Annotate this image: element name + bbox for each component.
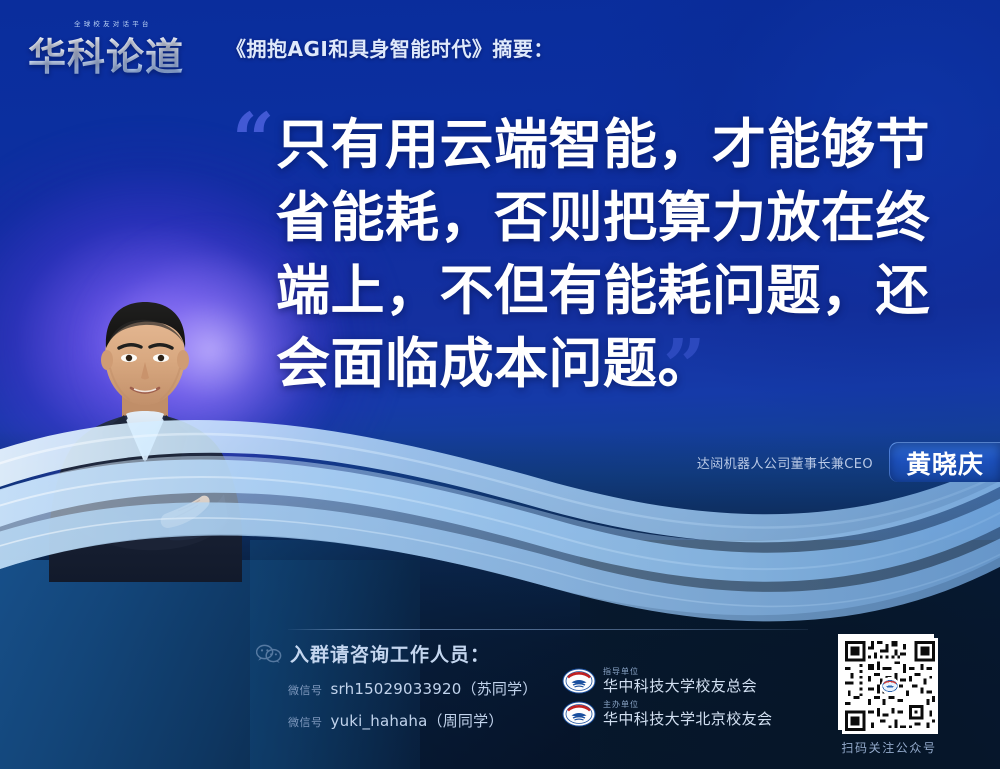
page-title: 《拥抱AGI和具身智能时代》摘要：	[226, 33, 554, 62]
footer-divider	[288, 629, 808, 630]
quote-close-mark: ”	[663, 330, 706, 404]
organizer-name: 华中科技大学北京校友会	[603, 712, 772, 727]
organizer-name: 华中科技大学校友总会	[603, 679, 757, 694]
poster-root: 全球校友对话平台 华科论道 《拥抱AGI和具身智能时代》摘要： “ 只有用云端智…	[0, 0, 1000, 769]
contact-label: 微信号	[288, 714, 323, 730]
wechat-icon	[256, 644, 282, 664]
qr-caption: 扫码关注公众号	[838, 739, 940, 756]
join-heading: 入群请咨询工作人员：	[290, 640, 490, 667]
brand-name: 华科论道	[28, 26, 184, 81]
university-emblem-icon	[562, 701, 596, 727]
organizer-kind: 主办单位	[603, 701, 772, 709]
contact-row[interactable]: 微信号 yuki_hahaha（周同学）	[288, 710, 596, 731]
brand-logo[interactable]: 全球校友对话平台 华科论道	[28, 13, 210, 75]
footer-contact-block: 入群请咨询工作人员： 微信号 srh15029033920（苏同学） 微信号 y…	[256, 640, 596, 731]
attribution: 达闼机器人公司董事长兼CEO 黄晓庆	[697, 442, 1000, 482]
organizer-row: 指导单位 华中科技大学校友总会	[562, 668, 772, 694]
qr-block[interactable]: 扫码关注公众号	[838, 634, 940, 756]
speaker-role: 达闼机器人公司董事长兼CEO	[697, 453, 873, 472]
quote-open-mark: “	[232, 104, 275, 178]
organizer-block: 指导单位 华中科技大学校友总会 主办单位 华中科技大学北京校友会	[562, 668, 772, 734]
organizer-row: 主办单位 华中科技大学北京校友会	[562, 701, 772, 727]
university-emblem-icon	[562, 668, 596, 694]
speaker-name-badge: 黄晓庆	[889, 442, 1000, 482]
qr-code-image[interactable]	[838, 634, 934, 730]
contact-value: yuki_hahaha（周同学）	[331, 710, 504, 731]
quote-text: 只有用云端智能，才能够节省能耗，否则把算力放在终端上，不但有能耗问题，还会面临成…	[276, 108, 946, 400]
contact-label: 微信号	[288, 682, 323, 698]
join-heading-row: 入群请咨询工作人员：	[256, 640, 596, 667]
organizer-kind: 指导单位	[603, 668, 757, 676]
contact-value: srh15029033920（苏同学）	[331, 678, 538, 699]
header: 全球校友对话平台 华科论道 《拥抱AGI和具身智能时代》摘要：	[0, 0, 1000, 88]
contact-row[interactable]: 微信号 srh15029033920（苏同学）	[288, 678, 596, 699]
